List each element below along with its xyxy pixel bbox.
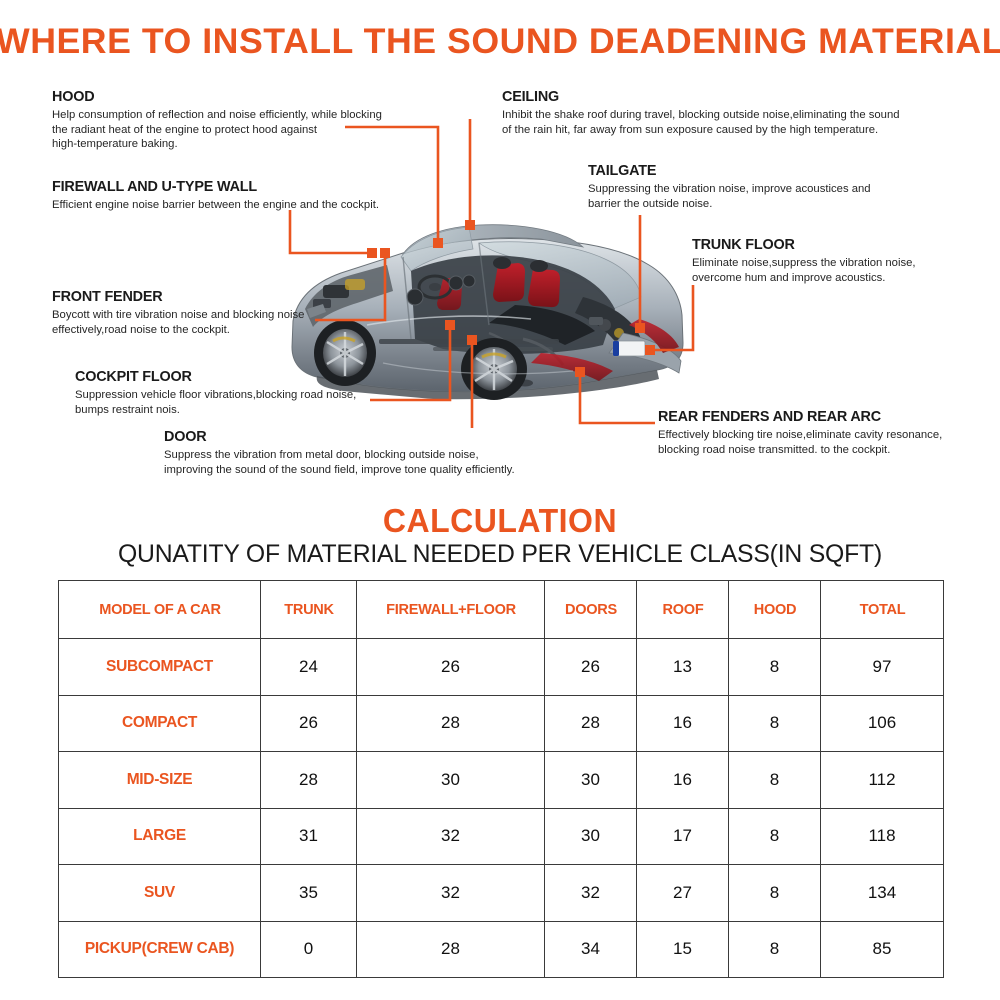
callout-trunk-floor-body: Eliminate noise,suppress the vibration n…: [692, 256, 982, 285]
callout-cockpit-floor: COCKPIT FLOOR Suppression vehicle floor …: [75, 368, 395, 417]
callout-firewall-title: FIREWALL AND U-TYPE WALL: [52, 178, 398, 195]
cell-roof: 15: [637, 921, 729, 978]
col-header-doors: DOORS: [546, 581, 635, 639]
callout-door-title: DOOR: [164, 428, 548, 445]
callout-hood-title: HOOD: [52, 88, 388, 105]
cell-model: SUV: [59, 865, 261, 922]
marker-cockpit-floor: [445, 320, 455, 330]
table-row: MID-SIZE 28 30 30 16 8 112: [59, 752, 944, 809]
callout-firewall: FIREWALL AND U-TYPE WALL Efficient engin…: [52, 178, 412, 213]
cell-total: 118: [821, 808, 944, 865]
table-row: PICKUP(CREW CAB) 0 28 34 15 8 85: [59, 921, 944, 978]
cell-firewall-floor: 30: [357, 752, 545, 809]
callout-rear-fenders-body: Effectively blocking tire noise,eliminat…: [658, 428, 978, 457]
marker-door: [467, 335, 477, 345]
col-header-roof: ROOF: [638, 581, 727, 639]
cell-model: PICKUP(CREW CAB): [59, 921, 261, 978]
col-header-trunk: TRUNK: [262, 581, 355, 639]
cell-model: LARGE: [59, 808, 261, 865]
cell-roof: 16: [637, 695, 729, 752]
col-header-model: MODEL OF A CAR: [62, 581, 258, 639]
col-header-total: TOTAL: [822, 581, 941, 639]
table-row: COMPACT 26 28 28 16 8 106: [59, 695, 944, 752]
cell-trunk: 28: [261, 752, 357, 809]
callout-rear-fenders: REAR FENDERS AND REAR ARC Effectively bl…: [658, 408, 978, 457]
callout-tailgate-title: TAILGATE: [588, 162, 953, 179]
cell-doors: 32: [545, 865, 637, 922]
cell-hood: 8: [729, 865, 821, 922]
callout-firewall-body: Efficient engine noise barrier between t…: [52, 198, 412, 213]
cell-hood: 8: [729, 752, 821, 809]
marker-firewall: [367, 248, 377, 258]
table-header-row: MODEL OF A CAR TRUNK FIREWALL+FLOOR DOOR…: [59, 581, 944, 639]
cell-firewall-floor: 28: [357, 695, 545, 752]
cell-doors: 28: [545, 695, 637, 752]
cell-roof: 17: [637, 808, 729, 865]
col-header-hood: HOOD: [730, 581, 819, 639]
callout-trunk-floor-title: TRUNK FLOOR: [692, 236, 970, 253]
callout-front-fender: FRONT FENDER Boycott with tire vibration…: [52, 288, 352, 337]
marker-ceiling: [465, 220, 475, 230]
cell-firewall-floor: 26: [357, 639, 545, 696]
material-quantity-table: MODEL OF A CAR TRUNK FIREWALL+FLOOR DOOR…: [58, 580, 944, 978]
cell-doors: 34: [545, 921, 637, 978]
callout-tailgate: TAILGATE Suppressing the vibration noise…: [588, 162, 968, 211]
callout-ceiling-body: Inhibit the shake roof during travel, bl…: [502, 108, 972, 137]
cell-firewall-floor: 28: [357, 921, 545, 978]
cell-doors: 26: [545, 639, 637, 696]
table-row: SUV 35 32 32 27 8 134: [59, 865, 944, 922]
cell-firewall-floor: 32: [357, 865, 545, 922]
callout-hood: HOOD Help consumption of reflection and …: [52, 88, 402, 152]
cell-hood: 8: [729, 695, 821, 752]
cell-hood: 8: [729, 808, 821, 865]
calculation-subtitle: QUNATITY OF MATERIAL NEEDED PER VEHICLE …: [5, 540, 995, 569]
marker-front-fender: [380, 248, 390, 258]
cell-trunk: 35: [261, 865, 357, 922]
marker-hood: [433, 238, 443, 248]
marker-tailgate: [635, 323, 645, 333]
callout-tailgate-body: Suppressing the vibration noise, improve…: [588, 182, 968, 211]
cell-roof: 16: [637, 752, 729, 809]
callout-front-fender-body: Boycott with tire vibration noise and bl…: [52, 308, 352, 337]
marker-rear-fenders: [575, 367, 585, 377]
cell-total: 112: [821, 752, 944, 809]
cell-total: 134: [821, 865, 944, 922]
cell-hood: 8: [729, 639, 821, 696]
cell-firewall-floor: 32: [357, 808, 545, 865]
callout-ceiling-title: CEILING: [502, 88, 953, 105]
calculation-title: CALCULATION: [15, 502, 985, 540]
callout-door-body: Suppress the vibration from metal door, …: [164, 448, 564, 477]
callout-cockpit-floor-body: Suppression vehicle floor vibrations,blo…: [75, 388, 395, 417]
cell-model: COMPACT: [59, 695, 261, 752]
table-row: LARGE 31 32 30 17 8 118: [59, 808, 944, 865]
cell-roof: 27: [637, 865, 729, 922]
cell-total: 97: [821, 639, 944, 696]
cell-total: 106: [821, 695, 944, 752]
cell-model: SUBCOMPACT: [59, 639, 261, 696]
cell-trunk: 24: [261, 639, 357, 696]
callout-trunk-floor: TRUNK FLOOR Eliminate noise,suppress the…: [692, 236, 982, 285]
cell-doors: 30: [545, 752, 637, 809]
cell-model: MID-SIZE: [59, 752, 261, 809]
cell-total: 85: [821, 921, 944, 978]
cell-trunk: 26: [261, 695, 357, 752]
cell-hood: 8: [729, 921, 821, 978]
cell-trunk: 31: [261, 808, 357, 865]
cell-doors: 30: [545, 808, 637, 865]
marker-trunk-floor: [645, 345, 655, 355]
cell-trunk: 0: [261, 921, 357, 978]
callout-rear-fenders-title: REAR FENDERS AND REAR ARC: [658, 408, 965, 425]
callout-ceiling: CEILING Inhibit the shake roof during tr…: [502, 88, 972, 137]
callout-door: DOOR Suppress the vibration from metal d…: [164, 428, 564, 477]
callout-hood-body: Help consumption of reflection and noise…: [52, 108, 402, 152]
table-row: SUBCOMPACT 24 26 26 13 8 97: [59, 639, 944, 696]
callout-front-fender-title: FRONT FENDER: [52, 288, 340, 305]
cell-roof: 13: [637, 639, 729, 696]
callout-cockpit-floor-title: COCKPIT FLOOR: [75, 368, 382, 385]
col-header-firewall-floor: FIREWALL+FLOOR: [359, 581, 541, 639]
